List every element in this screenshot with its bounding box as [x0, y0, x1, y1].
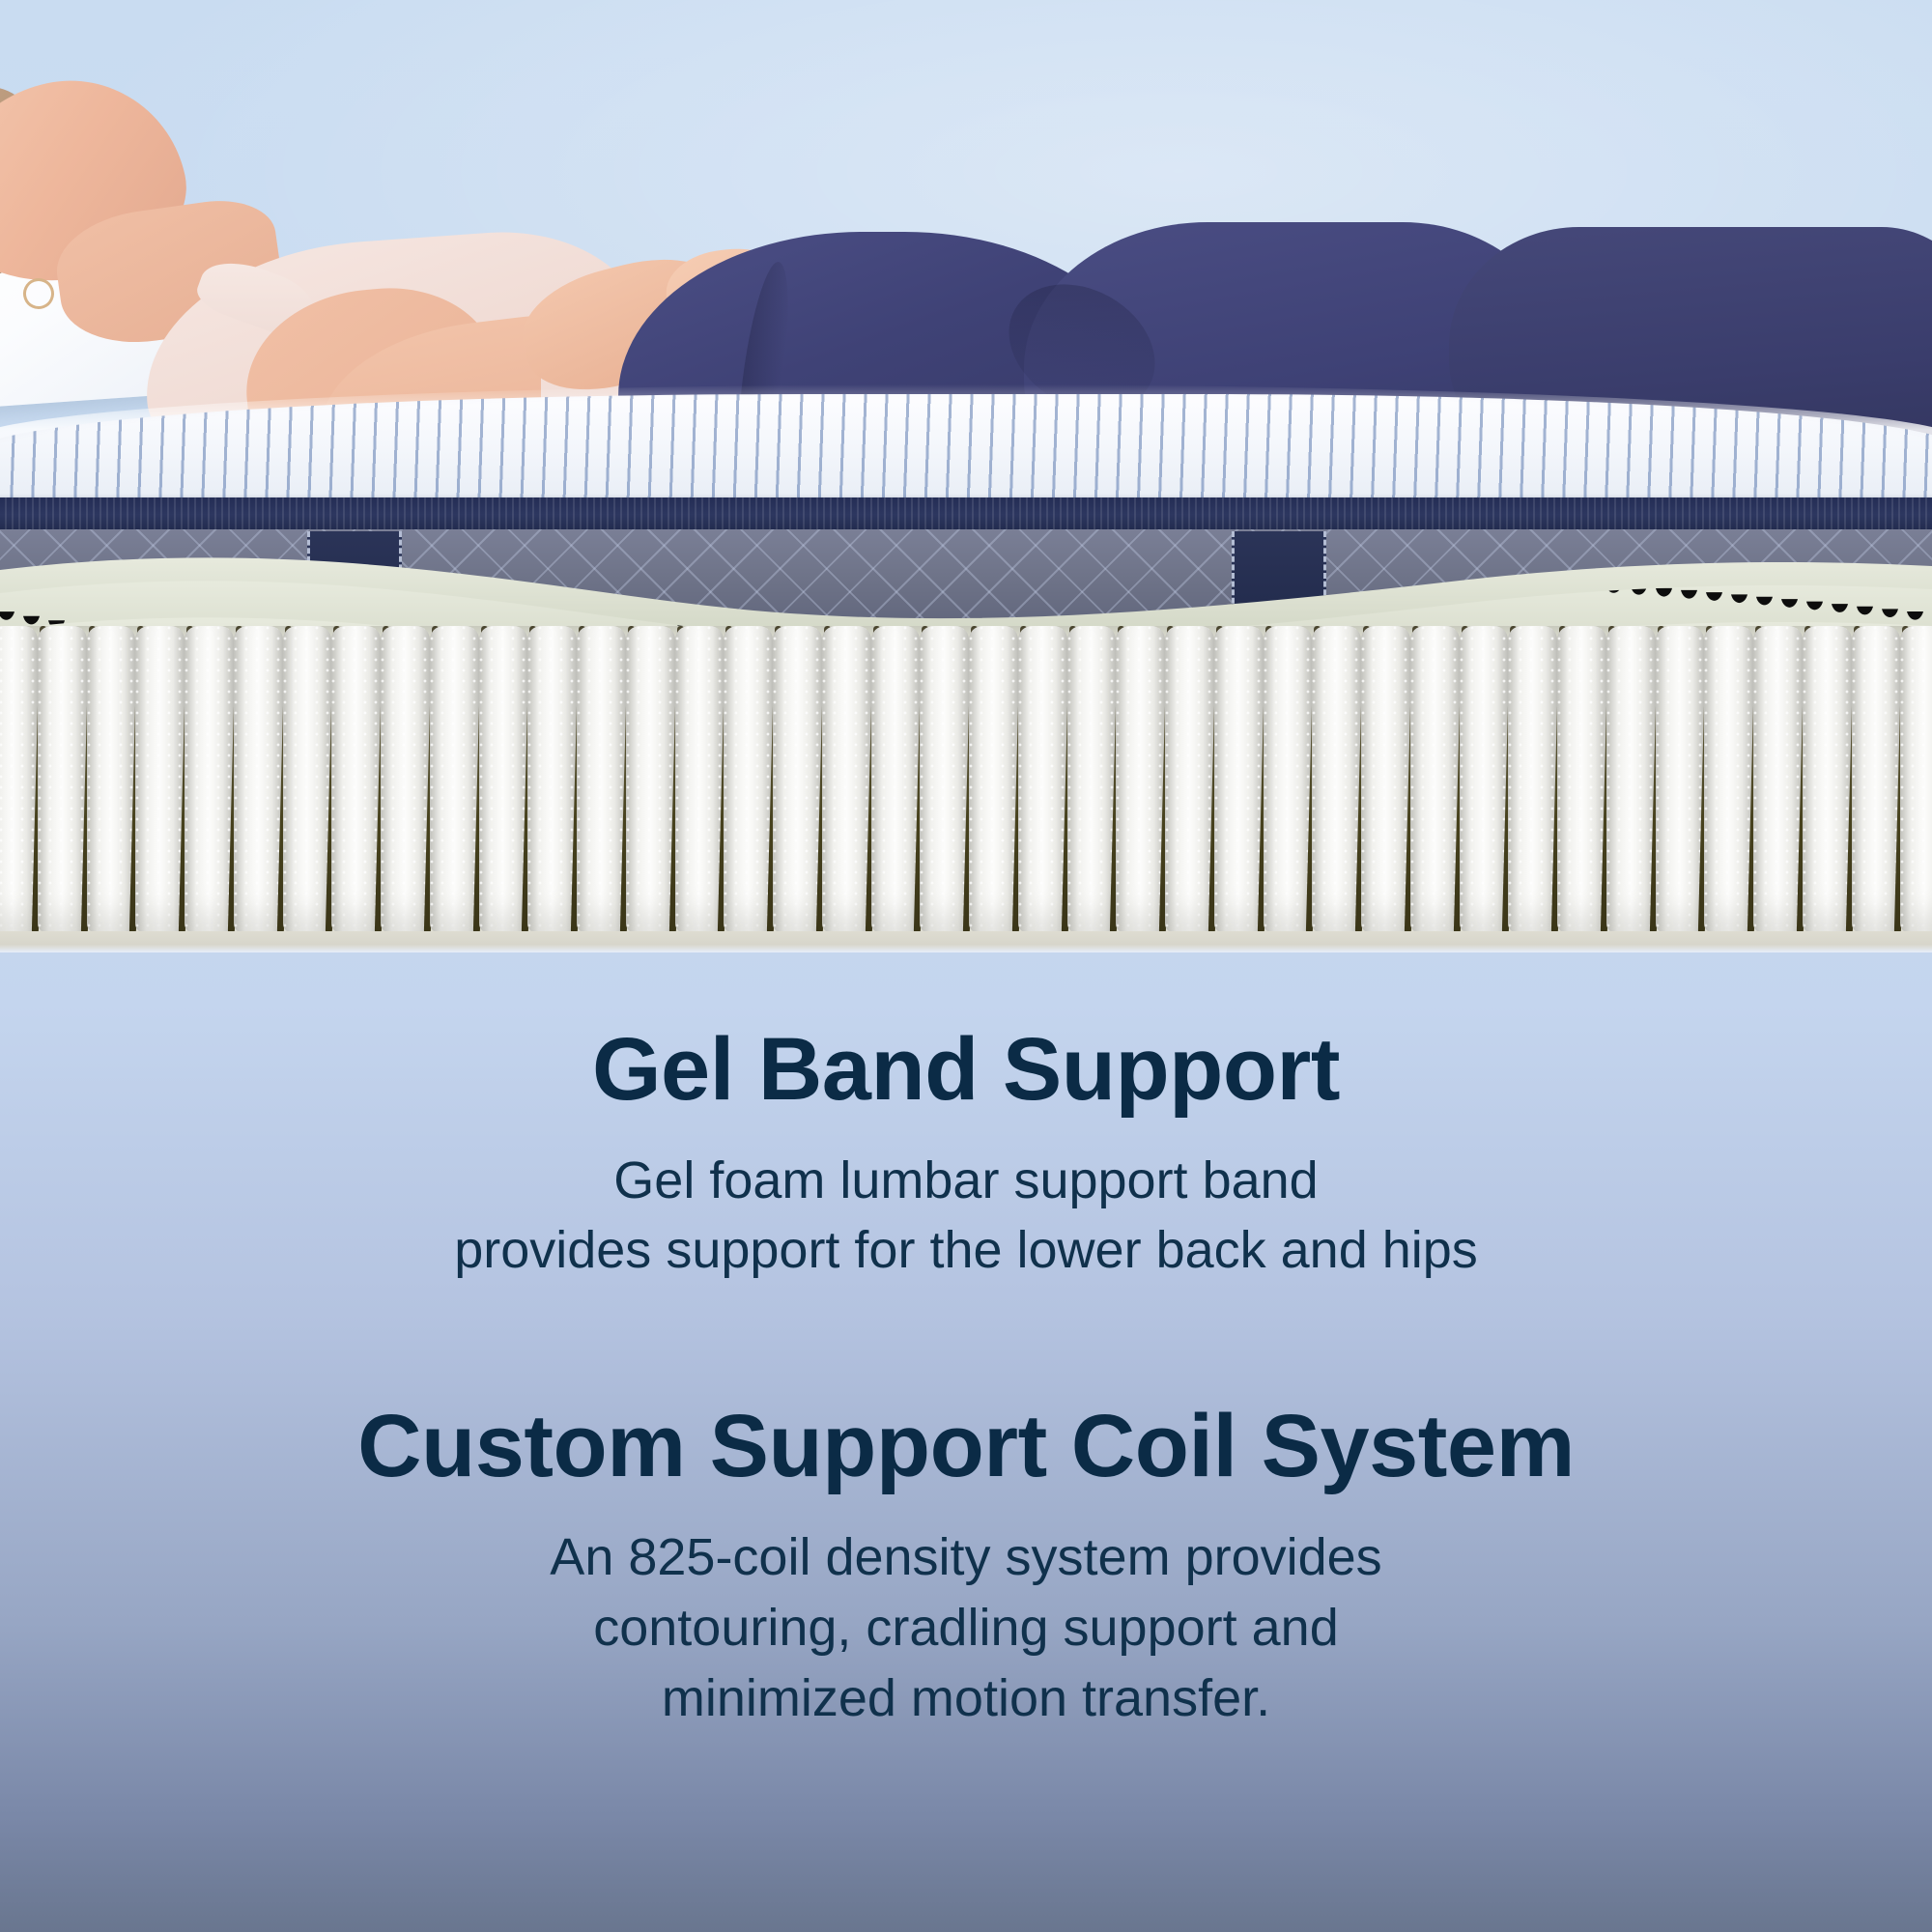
hero-bottom-edge [0, 945, 1932, 952]
feature-text-panel: Gel Band Support Gel foam lumbar support… [0, 952, 1932, 1932]
pocketed-coil [1606, 626, 1656, 933]
pocketed-coil [479, 626, 528, 933]
coil-row [0, 626, 1932, 933]
convoluted-foam-notch [1204, 577, 1220, 585]
pocketed-coil [626, 626, 675, 933]
pocketed-coil [527, 626, 577, 933]
pocketed-coil [1312, 626, 1361, 933]
pocketed-coil [185, 626, 234, 933]
pocketed-coil [577, 626, 626, 933]
convoluted-foam-notch [1028, 585, 1044, 594]
pocketed-coil [822, 626, 871, 933]
convoluted-foam-notch [852, 601, 868, 610]
convoluted-foam-notch [1329, 575, 1346, 583]
pocketed-coil [1656, 626, 1705, 933]
pocketed-coil [381, 626, 430, 933]
pocketed-coil [969, 626, 1018, 933]
pocketed-coil [1165, 626, 1214, 933]
pocketed-coil [430, 626, 479, 933]
pocketed-coil [283, 626, 332, 933]
convoluted-foam-notch [827, 603, 843, 611]
product-feature-panel: Gel Band Support Gel foam lumbar support… [0, 0, 1932, 1932]
pocketed-coil [331, 626, 381, 933]
description-line: An 825-coil density system provides [0, 1522, 1932, 1593]
pocketed-coil [1214, 626, 1264, 933]
pocketed-coil [1410, 626, 1460, 933]
pocketed-coil [1852, 626, 1901, 933]
convoluted-foam-notch [1103, 581, 1120, 589]
convoluted-foam-notch [1053, 584, 1069, 593]
convoluted-foam-notch [1003, 587, 1019, 596]
convoluted-foam-notch [1304, 575, 1321, 583]
pocketed-coil [1704, 626, 1753, 933]
description-line: minimized motion transfer. [0, 1663, 1932, 1734]
pocketed-coil [871, 626, 921, 933]
pocketed-coil [1557, 626, 1606, 933]
convoluted-foam-notch [1354, 575, 1371, 583]
pocketed-coil [773, 626, 822, 933]
convoluted-foam-notch [952, 591, 969, 600]
pocketed-coil [1900, 626, 1932, 933]
pocketed-coil [135, 626, 185, 933]
convoluted-foam-notch [1153, 579, 1170, 587]
convoluted-foam-notch [1078, 582, 1094, 591]
convoluted-foam-notch [1179, 578, 1195, 586]
description-line: provides support for the lower back and … [0, 1215, 1932, 1286]
convoluted-foam-notch [877, 598, 894, 607]
convoluted-foam-notch [1254, 575, 1270, 583]
pocketed-coil [675, 626, 724, 933]
feature-block-gel-band: Gel Band Support Gel foam lumbar support… [0, 1023, 1932, 1286]
description-gel-band-support: Gel foam lumbar support band provides su… [0, 1146, 1932, 1287]
feature-block-coil-system: Custom Support Coil System An 825-coil d… [0, 1400, 1932, 1733]
pocketed-coil [1116, 626, 1165, 933]
heading-custom-support-coil-system: Custom Support Coil System [0, 1400, 1932, 1493]
pocketed-coil [1264, 626, 1313, 933]
convoluted-foam-notch [1128, 580, 1145, 588]
pocketed-coil [1018, 626, 1067, 933]
mattress-hero-image [0, 0, 1932, 952]
pocketed-coil [0, 626, 38, 933]
pocketed-coil [920, 626, 969, 933]
pocketed-coil [1753, 626, 1803, 933]
convoluted-foam-notch [902, 596, 919, 605]
heading-gel-band-support: Gel Band Support [0, 1023, 1932, 1117]
pocketed-coil [1508, 626, 1557, 933]
convoluted-foam-notch [978, 589, 994, 598]
convoluted-foam-notch [1229, 576, 1245, 584]
convoluted-foam-notch [802, 606, 818, 614]
description-line: contouring, cradling support and [0, 1593, 1932, 1663]
convoluted-foam-notch [927, 594, 944, 603]
pocketed-coil [1460, 626, 1509, 933]
pocketed-coil [1067, 626, 1117, 933]
convoluted-foam-notch [1379, 575, 1396, 583]
description-custom-support-coil-system: An 825-coil density system provides cont… [0, 1522, 1932, 1734]
pocketed-coil [1361, 626, 1410, 933]
pocketed-coil [87, 626, 136, 933]
pocketed-coil-system [0, 626, 1932, 952]
convoluted-foam-notch [1279, 575, 1295, 583]
pocketed-coil [234, 626, 283, 933]
description-line: Gel foam lumbar support band [0, 1146, 1932, 1216]
pocketed-coil [724, 626, 773, 933]
convoluted-foam-notch [1405, 576, 1421, 584]
pocketed-coil [38, 626, 87, 933]
pocketed-coil [1803, 626, 1852, 933]
